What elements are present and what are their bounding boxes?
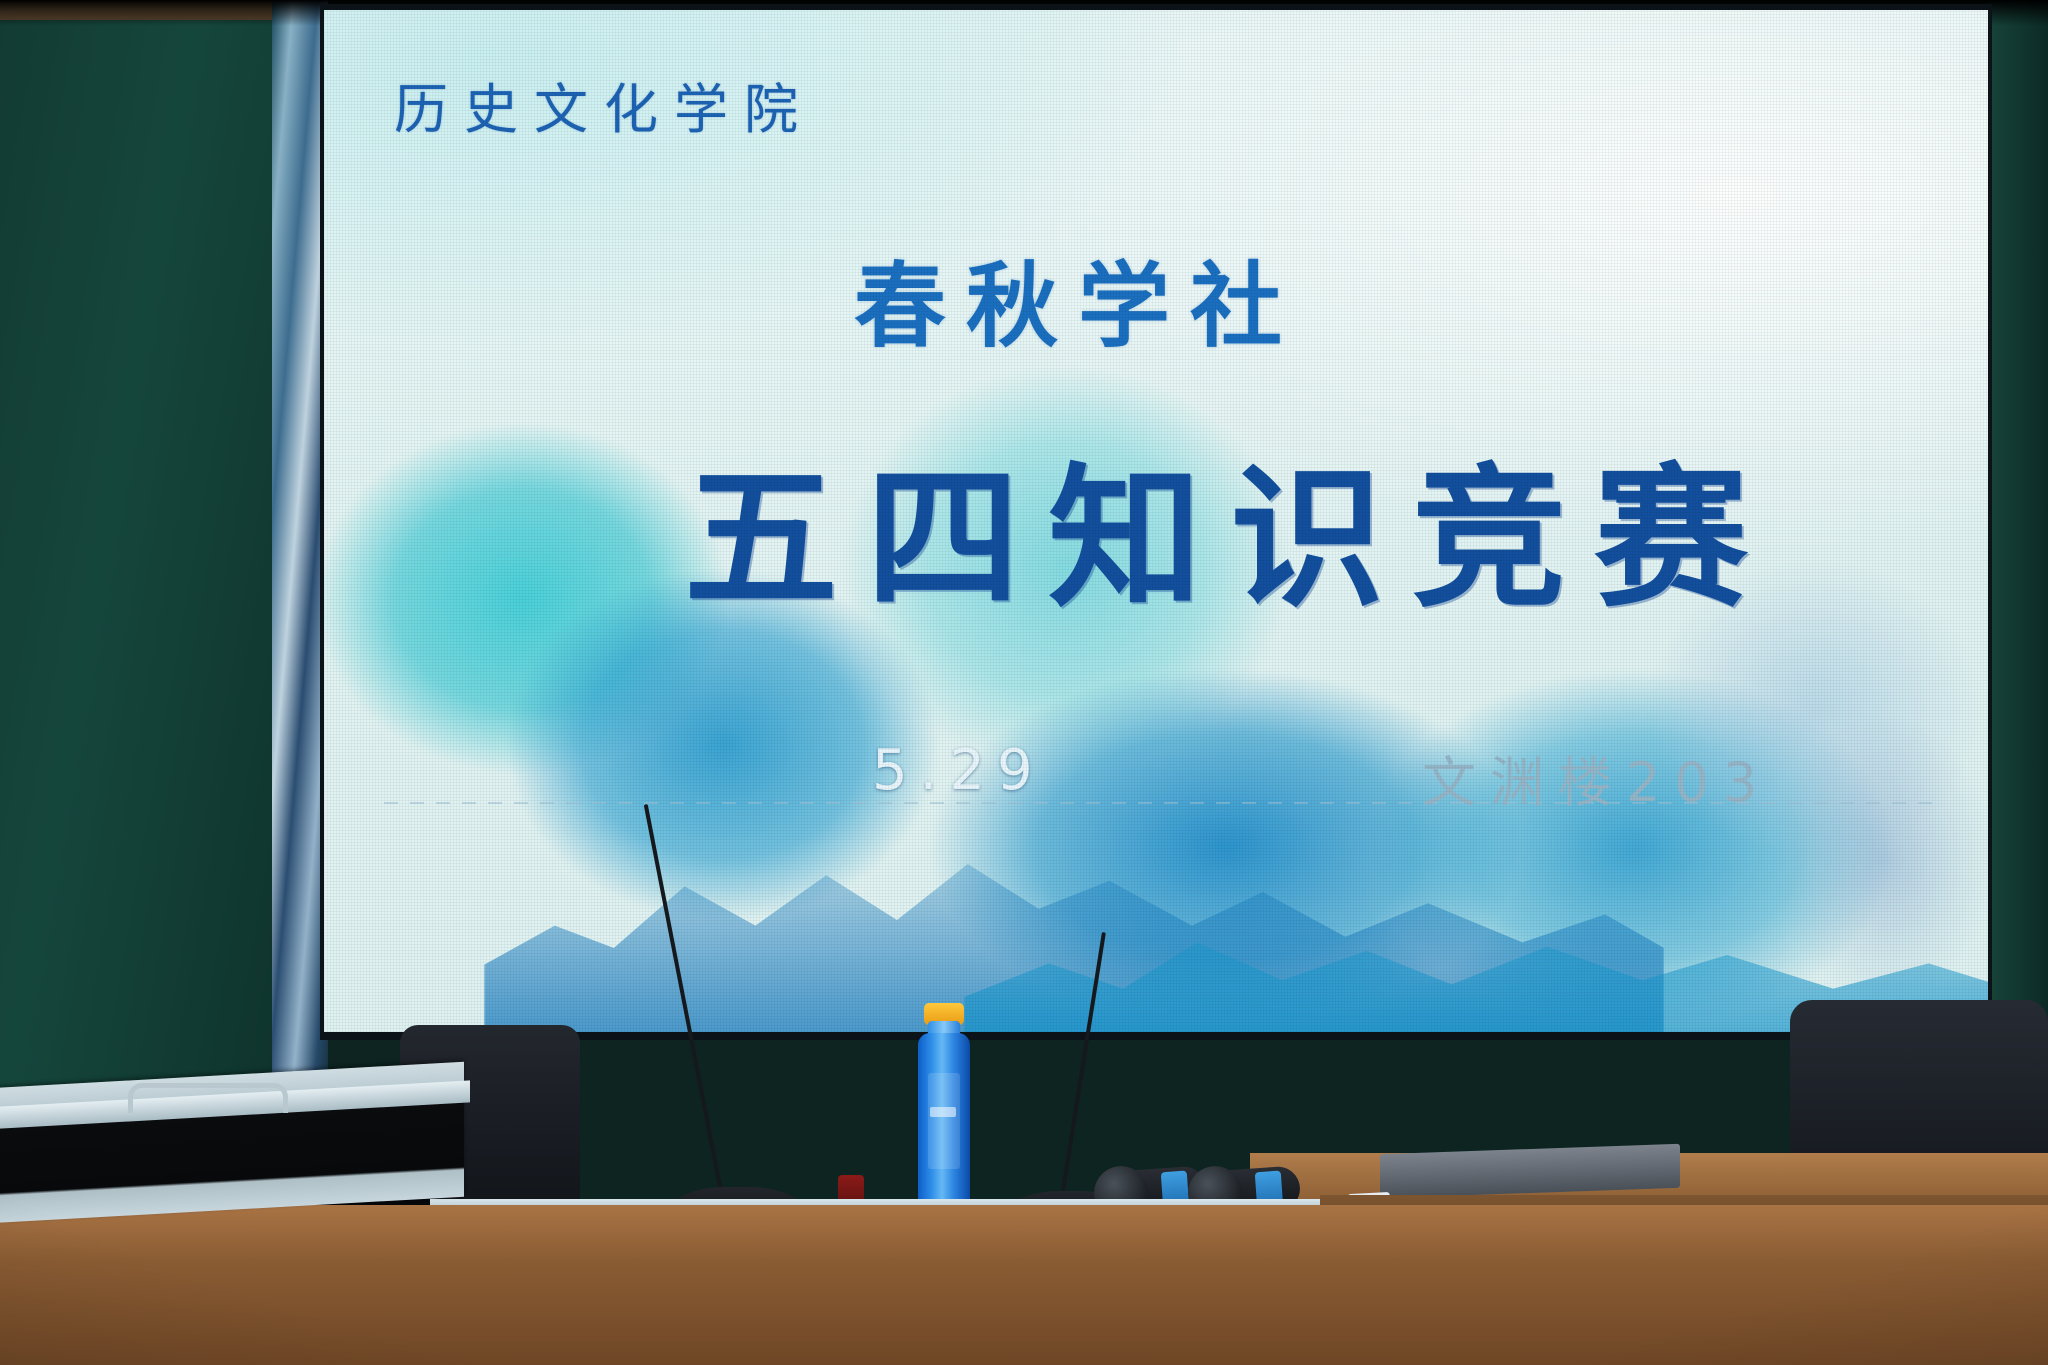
poster-club-name: 春秋学社	[854, 232, 1302, 365]
poster-organization: 历史文化学院	[394, 65, 814, 144]
poster-text-layer: 历史文化学院 春秋学社 五四知识竞赛 5.29 文渊楼203	[324, 10, 1988, 1032]
projection-screen-frame: 历史文化学院 春秋学社 五四知识竞赛 5.29 文渊楼203	[320, 4, 1992, 1040]
photo-scene: 历史文化学院 春秋学社 五四知识竞赛 5.29 文渊楼203	[0, 0, 2048, 1365]
right-wall	[1988, 0, 2048, 1040]
poster-location: 文渊楼203	[1422, 738, 1771, 817]
desk-front-wood	[0, 1205, 2048, 1365]
bottle-label	[928, 1073, 960, 1169]
poster-date: 5.29	[872, 738, 1045, 803]
bottle-label-stripe	[930, 1107, 956, 1117]
poster-event-title: 五四知识竞赛	[684, 414, 1776, 637]
left-wall	[0, 0, 300, 1110]
monitor-lift-handle	[128, 1083, 288, 1113]
projection-screen: 历史文化学院 春秋学社 五四知识竞赛 5.29 文渊楼203	[324, 10, 1988, 1032]
